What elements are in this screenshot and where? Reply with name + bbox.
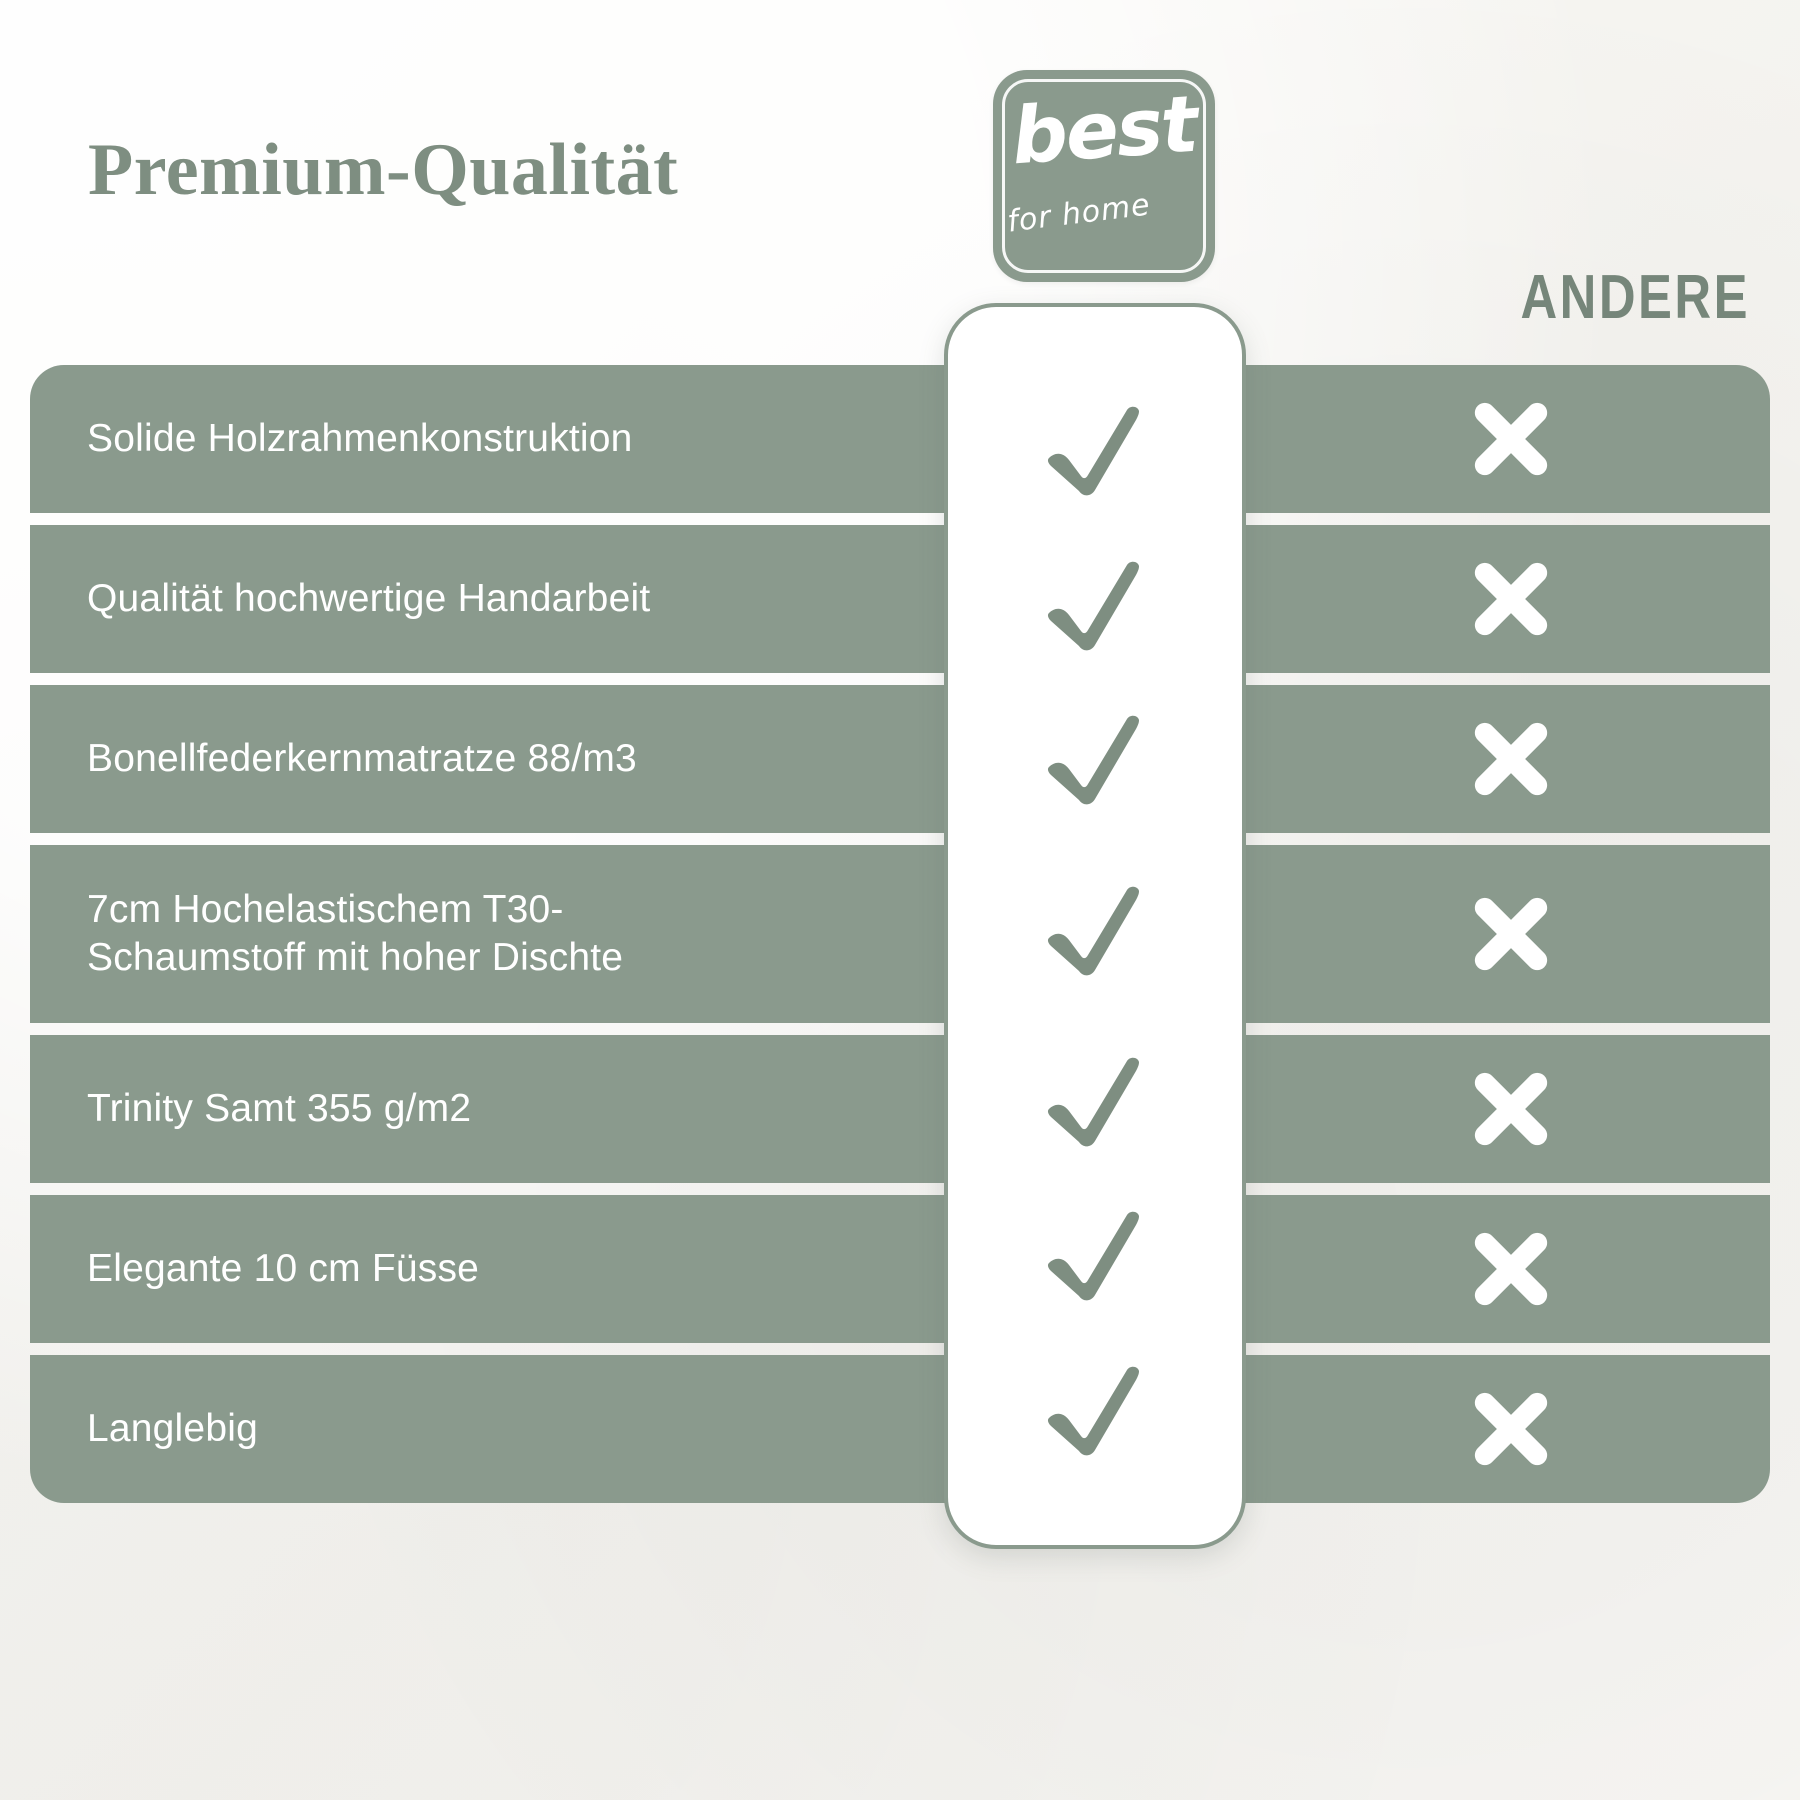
logo-wordmark: best bbox=[991, 84, 1218, 177]
check-icon bbox=[1039, 1045, 1151, 1149]
feature-label: Solide Holzrahmenkonstruktion bbox=[87, 415, 633, 463]
best-cell bbox=[948, 1019, 1242, 1174]
other-cell bbox=[1252, 1035, 1770, 1183]
feature-label: Bonellfederkernmatratze 88/m3 bbox=[87, 735, 637, 783]
other-cell bbox=[1252, 525, 1770, 673]
best-cell bbox=[948, 1174, 1242, 1329]
table-row: Elegante 10 cm Füsse bbox=[30, 1195, 1770, 1343]
feature-label: Qualität hochwertige Handarbeit bbox=[87, 575, 650, 623]
table-row: Bonellfederkernmatratze 88/m3 bbox=[30, 685, 1770, 833]
feature-label-line2: Schaumstoff mit hoher Dischte bbox=[87, 934, 623, 982]
comparison-rows: Solide Holzrahmenkonstruktion Qualität h… bbox=[30, 365, 1770, 1503]
page-title: Premium-Qualität bbox=[88, 128, 678, 213]
table-row: 7cm Hochelastischem T30- Schaumstoff mit… bbox=[30, 845, 1770, 1023]
feature-label-wrap: 7cm Hochelastischem T30- Schaumstoff mit… bbox=[87, 886, 623, 981]
best-cell bbox=[948, 524, 1242, 679]
other-cell bbox=[1252, 845, 1770, 1023]
cross-icon bbox=[1465, 393, 1557, 485]
check-icon bbox=[1039, 874, 1151, 978]
table-row: Langlebig bbox=[30, 1355, 1770, 1503]
feature-label: Trinity Samt 355 g/m2 bbox=[87, 1085, 471, 1133]
other-cell bbox=[1252, 685, 1770, 833]
cross-icon bbox=[1465, 1383, 1557, 1475]
check-icon bbox=[1039, 1199, 1151, 1303]
check-icon bbox=[1039, 1354, 1151, 1458]
other-cell bbox=[1252, 1195, 1770, 1343]
brand-logo: best for home bbox=[993, 70, 1215, 282]
best-cell bbox=[948, 1328, 1242, 1483]
cross-icon bbox=[1465, 553, 1557, 645]
feature-label: 7cm Hochelastischem T30- bbox=[87, 886, 623, 934]
feature-label: Langlebig bbox=[87, 1405, 258, 1453]
check-icon bbox=[1039, 703, 1151, 807]
column-header-andere: ANDERE bbox=[1521, 262, 1726, 333]
comparison-infographic: Premium-Qualität best for home ANDERE So… bbox=[0, 0, 1800, 1800]
best-cell bbox=[948, 369, 1242, 524]
other-cell bbox=[1252, 365, 1770, 513]
feature-label: Elegante 10 cm Füsse bbox=[87, 1245, 479, 1293]
best-cell bbox=[948, 678, 1242, 833]
best-column-card bbox=[944, 303, 1246, 1549]
cross-icon bbox=[1465, 1223, 1557, 1315]
best-cell bbox=[948, 833, 1242, 1020]
table-row: Solide Holzrahmenkonstruktion bbox=[30, 365, 1770, 513]
check-icon bbox=[1039, 394, 1151, 498]
table-row: Trinity Samt 355 g/m2 bbox=[30, 1035, 1770, 1183]
cross-icon bbox=[1465, 713, 1557, 805]
cross-icon bbox=[1465, 888, 1557, 980]
table-row: Qualität hochwertige Handarbeit bbox=[30, 525, 1770, 673]
cross-icon bbox=[1465, 1063, 1557, 1155]
check-icon bbox=[1039, 549, 1151, 653]
other-cell bbox=[1252, 1355, 1770, 1503]
